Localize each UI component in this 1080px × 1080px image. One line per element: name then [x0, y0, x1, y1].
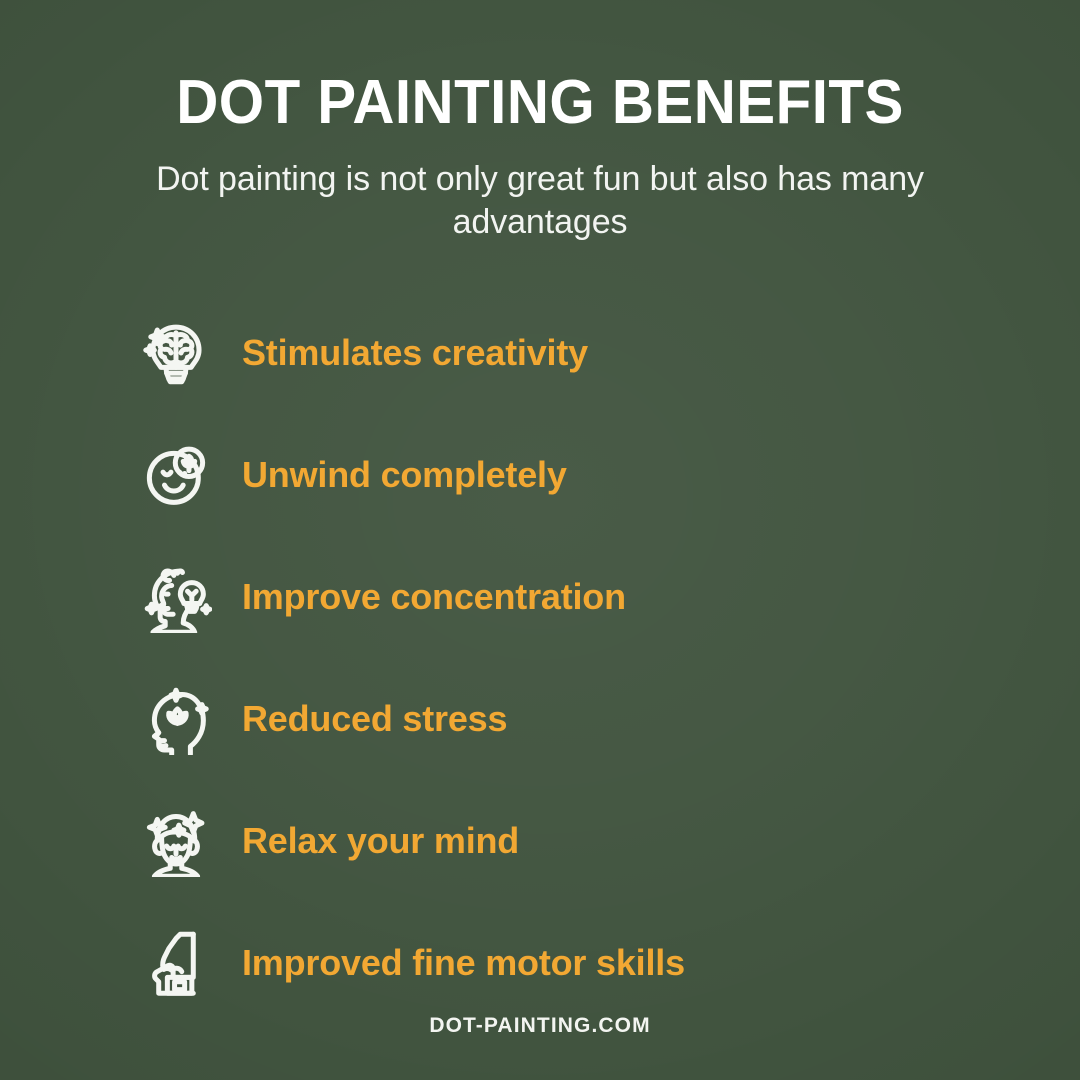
poster-footer: DOT-PAINTING.COM	[0, 1014, 1080, 1038]
poster-header: DOT PAINTING BENEFITS Dot painting is no…	[0, 0, 1080, 244]
benefit-item-reduced-stress: Reduced stress	[138, 658, 507, 780]
lightbulb-brain-sparkle-icon	[138, 315, 214, 391]
head-profile-lotus-sparkle-icon	[138, 681, 214, 757]
benefit-label: Unwind completely	[242, 454, 567, 496]
smiling-face-flower-icon	[138, 437, 214, 513]
benefit-item-improved-fine-motor-skills: Improved fine motor skills	[138, 902, 685, 1024]
head-profile-lightbulb-icon	[138, 559, 214, 635]
page-subtitle: Dot painting is not only great fun but a…	[145, 158, 935, 244]
relaxed-face-sparkle-icon	[138, 803, 214, 879]
benefit-item-improve-concentration: Improve concentration	[138, 536, 626, 658]
benefit-label: Relax your mind	[242, 820, 519, 862]
benefit-item-stimulates-creativity: Stimulates creativity	[138, 292, 588, 414]
benefits-list: Stimulates creativity	[0, 292, 1080, 1024]
benefit-item-unwind-completely: Unwind completely	[138, 414, 567, 536]
poster-canvas: DOT PAINTING BENEFITS Dot painting is no…	[0, 0, 1080, 1080]
page-title: DOT PAINTING BENEFITS	[32, 72, 1047, 134]
benefit-label: Improved fine motor skills	[242, 942, 685, 984]
benefit-item-relax-your-mind: Relax your mind	[138, 780, 519, 902]
benefit-label: Stimulates creativity	[242, 332, 588, 374]
website-url: DOT-PAINTING.COM	[429, 1014, 650, 1037]
hand-holding-block-icon	[138, 925, 214, 1001]
benefit-label: Improve concentration	[242, 576, 626, 618]
benefit-label: Reduced stress	[242, 698, 507, 740]
